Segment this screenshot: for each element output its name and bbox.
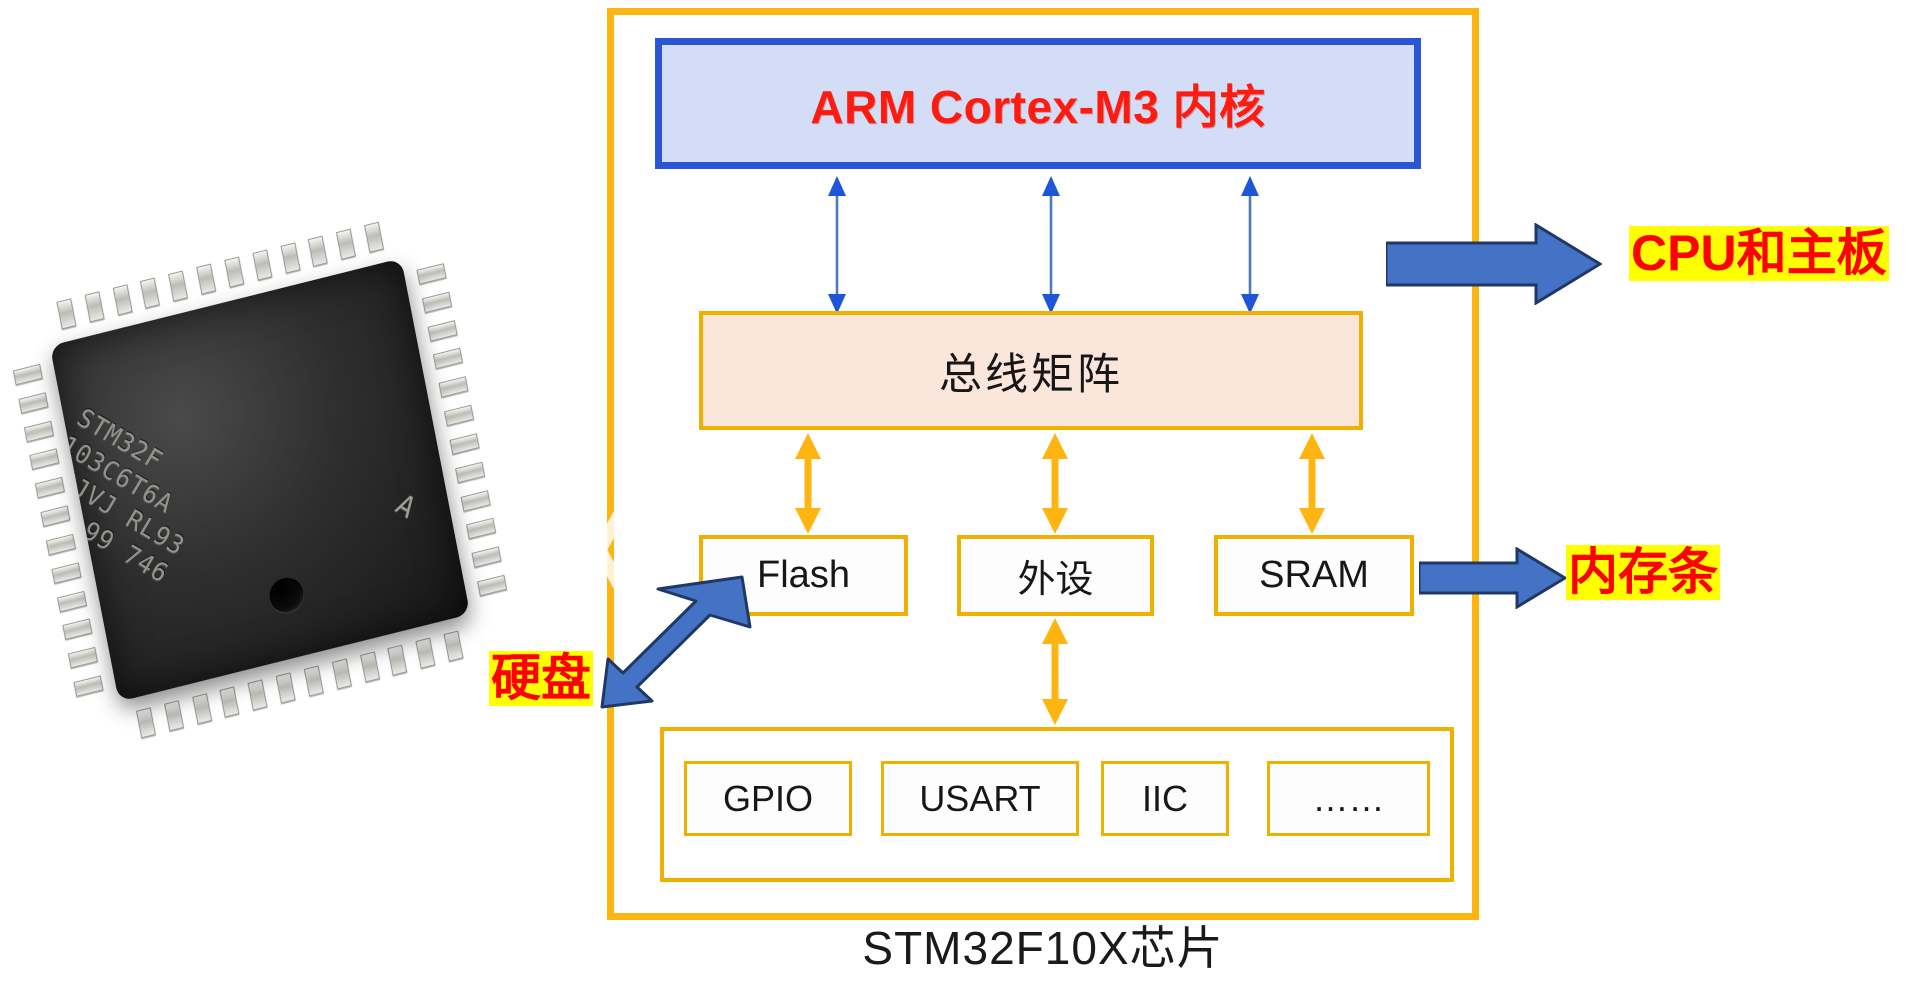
usart-box: USART: [881, 761, 1079, 836]
peripheral-label: 外设: [1017, 548, 1093, 603]
cpu-annotation-label: CPU和主板: [1629, 226, 1889, 281]
more-peripherals-box: ……: [1267, 761, 1430, 836]
bus-matrix-box: 总线矩阵: [699, 311, 1363, 430]
usart-label: USART: [919, 778, 1040, 820]
bus-peripheral-arrow: [1040, 433, 1070, 534]
more-peripherals-label: ……: [1313, 778, 1385, 820]
bus-matrix-label: 总线矩阵: [939, 340, 1123, 402]
chip-corner-mark: A: [390, 487, 421, 524]
sram-box: SRAM: [1214, 535, 1414, 616]
peripheral-box: 外设: [957, 535, 1154, 616]
peripheral-group-arrow: [1040, 618, 1070, 725]
chip-pin1-dot: [267, 574, 306, 616]
disk-callout-arrow-icon: [592, 567, 752, 712]
ram-callout-arrow-icon: [1419, 547, 1567, 609]
disk-annotation-label: 硬盘: [489, 651, 593, 706]
gpio-box: GPIO: [684, 761, 852, 836]
arm-core-label: ARM Cortex-M3 内核: [810, 71, 1265, 137]
arm-core-box: ARM Cortex-M3 内核: [655, 38, 1421, 169]
diagram-caption: STM32F10X芯片: [607, 912, 1479, 978]
diagram-canvas: STM32F 103C6T6A 99JVJ RL93 MYS 99 746 A …: [0, 0, 1915, 984]
iic-box: IIC: [1101, 761, 1229, 836]
bus-flash-arrow: [793, 433, 823, 534]
iic-label: IIC: [1142, 778, 1188, 820]
stm32-chip-photo: STM32F 103C6T6A 99JVJ RL93 MYS 99 746 A: [0, 250, 520, 710]
peripheral-group-box: GPIO USART IIC ……: [660, 727, 1454, 882]
sram-label: SRAM: [1259, 554, 1369, 597]
core-bus-arrow-3: [1239, 176, 1261, 314]
core-bus-arrow-1: [826, 176, 848, 314]
gpio-label: GPIO: [723, 778, 813, 820]
flash-label: Flash: [757, 554, 850, 597]
core-bus-arrow-2: [1040, 176, 1062, 314]
cpu-callout-arrow-icon: [1386, 223, 1602, 305]
ram-annotation-label: 内存条: [1566, 545, 1720, 600]
bus-sram-arrow: [1297, 433, 1327, 534]
